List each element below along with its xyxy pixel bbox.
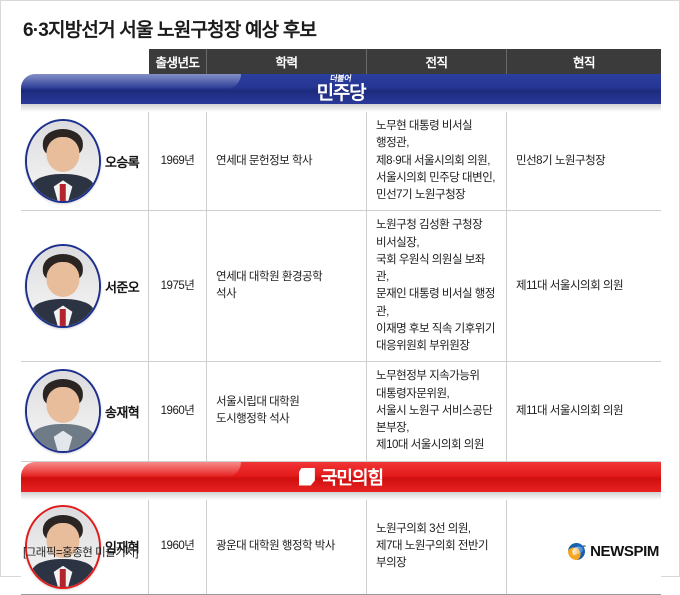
- column-header-current: 현직: [507, 49, 661, 74]
- candidate-identity: 오승록: [21, 112, 149, 210]
- table-header-row: 출생년도 학력 전직 현직: [149, 49, 661, 74]
- cell-education: 서울시립대 대학원 도시행정학 석사: [207, 362, 367, 460]
- graphic-credit: [그래픽=홍종현 미술기자]: [23, 544, 138, 560]
- column-header-previous: 전직: [367, 49, 507, 74]
- infographic-page: 6·3지방선거 서울 노원구청장 예상 후보 출생년도 학력 전직 현직 더불어…: [0, 0, 680, 577]
- cell-birth: 1975년: [149, 211, 207, 361]
- banner-gloss: [21, 462, 241, 477]
- party-logo-main-text: 국민의힘: [321, 464, 383, 490]
- banner-shadow: [21, 104, 661, 112]
- cell-previous: 노원구청 김성환 구청장 비서실장, 국회 우원식 의원실 보좌관, 문재인 대…: [367, 211, 507, 361]
- cell-birth: 1960년: [149, 362, 207, 460]
- cell-education: 연세대 대학원 환경공학 석사: [207, 211, 367, 361]
- banner-shadow: [21, 492, 661, 500]
- cell-birth: 1969년: [149, 112, 207, 210]
- cell-current: 제11대 서울시의회 의원: [507, 211, 661, 361]
- candidate-identity: 서준오: [21, 211, 149, 361]
- cell-current: 민선8기 노원구청장: [507, 112, 661, 210]
- footer: [그래픽=홍종현 미술기자] NEWSPIM: [23, 543, 659, 560]
- party-logo-sub-text: 더불어: [330, 75, 352, 83]
- table-row: 송재혁 1960년 서울시립대 대학원 도시행정학 석사 노무현정부 지속가능위…: [21, 362, 661, 461]
- newspim-wordmark: NEWSPIM: [590, 543, 659, 560]
- column-header-education: 학력: [207, 49, 367, 74]
- newspim-mark-icon: [568, 543, 585, 560]
- table-row: 서준오 1975년 연세대 대학원 환경공학 석사 노원구청 김성환 구청장 비…: [21, 211, 661, 362]
- candidate-name: 서준오: [105, 277, 139, 296]
- people-power-party-logo: 국민의힘: [299, 464, 383, 490]
- candidate-identity: 송재혁: [21, 362, 149, 460]
- table-row: 오승록 1969년 연세대 문헌정보 학사 노무현 대통령 비서실 행정관, 제…: [21, 112, 661, 211]
- cell-education: 연세대 문헌정보 학사: [207, 112, 367, 210]
- party-mark-icon: [299, 468, 315, 486]
- cell-previous: 노무현 대통령 비서실 행정관, 제8·9대 서울시의회 의원, 서울시의회 민…: [367, 112, 507, 210]
- avatar: [25, 369, 101, 453]
- candidates-table: 출생년도 학력 전직 현직 더불어 민주당 오승록: [21, 49, 661, 595]
- party-banner-people-power: 국민의힘: [21, 462, 661, 492]
- column-header-birth: 출생년도: [149, 49, 207, 74]
- party-logo-main-text: 민주당: [317, 84, 366, 103]
- democratic-party-logo: 더불어 민주당: [317, 75, 366, 103]
- newspim-logo: NEWSPIM: [568, 543, 659, 560]
- page-title: 6·3지방선거 서울 노원구청장 예상 후보: [23, 15, 316, 42]
- candidate-name: 오승록: [105, 152, 139, 171]
- cell-current: 제11대 서울시의회 의원: [507, 362, 661, 460]
- candidate-name: 송재혁: [105, 402, 139, 421]
- cell-previous: 노무현정부 지속가능위 대통령자문위원, 서울시 노원구 서비스공단 본부장, …: [367, 362, 507, 460]
- avatar: [25, 244, 101, 328]
- party-banner-democratic: 더불어 민주당: [21, 74, 661, 104]
- banner-gloss: [21, 74, 241, 89]
- avatar: [25, 119, 101, 203]
